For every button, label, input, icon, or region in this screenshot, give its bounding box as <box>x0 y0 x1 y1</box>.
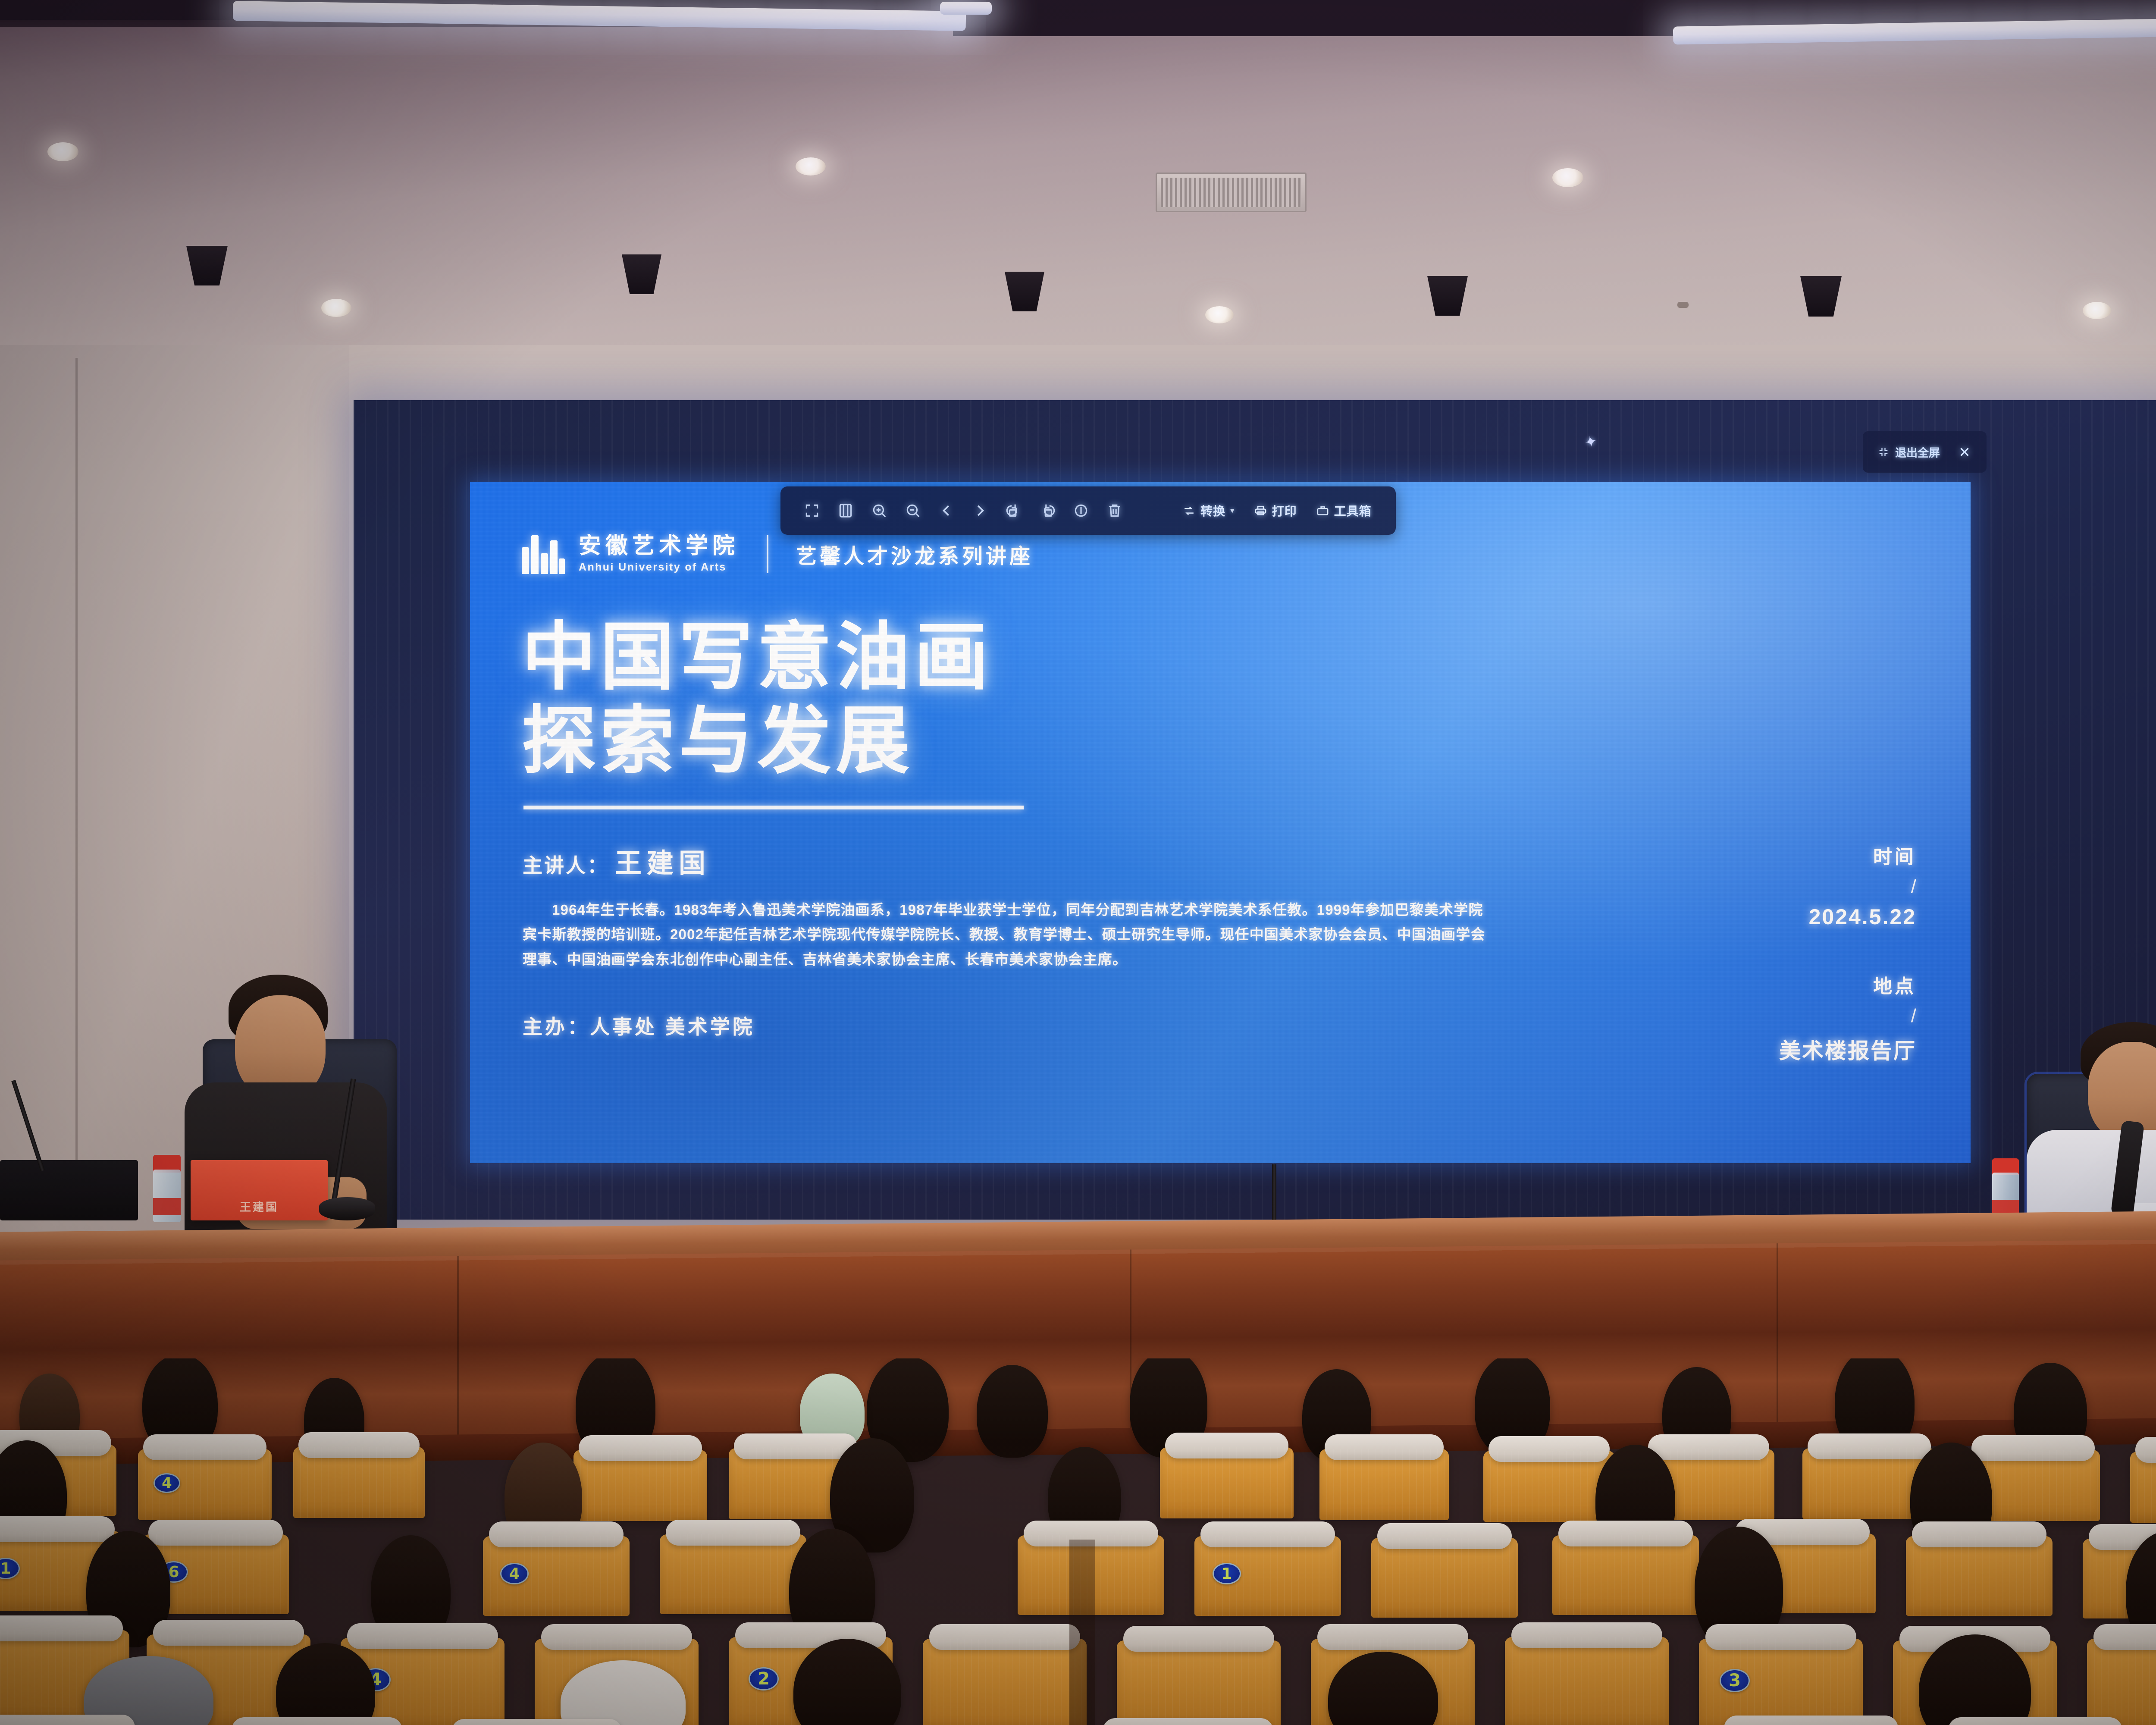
downlight-5 <box>1552 168 1583 187</box>
zoom-out-icon[interactable] <box>896 495 930 527</box>
seat[interactable] <box>573 1450 707 1521</box>
name-card-left: 王建国 <box>191 1160 328 1220</box>
microphone-stand-center <box>1272 1164 1276 1220</box>
water-bottle-left <box>153 1155 181 1222</box>
close-icon[interactable] <box>1957 445 1972 459</box>
audience-head <box>977 1365 1048 1458</box>
title-underline-rule <box>523 806 1024 809</box>
organizer-line: 主办：人事处 美术学院 <box>523 1011 1489 1040</box>
speaker-biography: 1964年生于长春。1983年考入鲁迅美术学院油画系，1987年毕业获学士学位，… <box>523 897 1489 972</box>
rotate-left-icon[interactable] <box>997 495 1031 527</box>
toolbox-button[interactable]: 工具箱 <box>1307 495 1381 527</box>
audience-seating: 4 1 6 4 1 3 <box>0 1358 2156 1725</box>
speaker-name: 王建国 <box>615 849 711 878</box>
zoom-in-icon[interactable] <box>862 495 896 527</box>
university-name-cn: 安徽艺术学院 <box>579 535 739 557</box>
slide-title-line1: 中国写意油画 <box>522 615 1929 699</box>
rotate-right-icon[interactable] <box>1031 495 1064 527</box>
delete-icon[interactable] <box>1098 495 1131 527</box>
ceiling-slab-mid <box>953 0 1686 36</box>
seat[interactable] <box>2130 1452 2156 1523</box>
seat[interactable] <box>1117 1640 1281 1725</box>
laptop-left <box>0 1160 138 1220</box>
chevron-down-icon[interactable]: ▾ <box>1230 506 1235 516</box>
seat[interactable] <box>1371 1538 1518 1618</box>
pdf-viewer-toolbar[interactable]: 转换 ▾ 打印 工具箱 <box>780 486 1396 535</box>
wall-seam-left <box>75 358 78 1203</box>
speaker-row: 主讲人：王建国 <box>523 841 1489 880</box>
place-slash: / <box>1489 1005 1916 1027</box>
time-value: 2024.5.22 <box>1489 904 1916 929</box>
seat[interactable] <box>1552 1535 1699 1615</box>
downlight-3 <box>796 157 826 176</box>
seat[interactable]: 1 <box>1194 1536 1341 1616</box>
next-page-icon[interactable] <box>963 495 997 527</box>
smoke-detector <box>1677 302 1689 308</box>
slide-meta-column: 时间 / 2024.5.22 地点 / 美术楼报告厅 <box>1489 841 1929 1065</box>
slide-brand-bar: 安徽艺术学院 Anhui University of Arts 艺馨人才沙龙系列… <box>521 534 1929 574</box>
seat-number-badge: 2 <box>749 1667 779 1690</box>
seat-number-badge: 3 <box>1720 1669 1750 1692</box>
projected-slide: 安徽艺术学院 Anhui University of Arts 艺馨人才沙龙系列… <box>470 482 1971 1163</box>
microphone-base-left <box>319 1197 375 1220</box>
convert-button[interactable]: 转换 ▾ <box>1173 495 1244 527</box>
name-card-left-text: 王建国 <box>240 1198 279 1214</box>
seat[interactable] <box>923 1639 1087 1725</box>
downlight-1 <box>47 142 78 161</box>
aisle-shadow-left <box>1069 1540 1095 1725</box>
viewer-window-chrome[interactable]: 退出全屏 <box>1863 431 1987 473</box>
seat-number-badge: 1 <box>1213 1563 1241 1584</box>
university-logo-icon <box>521 534 566 574</box>
seat[interactable] <box>293 1447 425 1518</box>
slide-title-line2: 探索与发展 <box>522 699 1929 783</box>
seat[interactable] <box>1505 1637 1669 1725</box>
toolbox-label: 工具箱 <box>1334 502 1372 519</box>
brand-divider <box>767 535 768 573</box>
convert-label: 转换 <box>1200 502 1225 519</box>
place-label: 地点 <box>1489 971 1916 998</box>
page-view-icon[interactable] <box>829 495 862 527</box>
seat[interactable] <box>2087 1639 2156 1725</box>
downlight-4 <box>1205 306 1234 323</box>
seat[interactable]: 4 <box>483 1536 630 1616</box>
previous-page-icon[interactable] <box>930 495 963 527</box>
seat[interactable] <box>1160 1447 1294 1518</box>
downlight-6 <box>2083 302 2111 319</box>
downlight-2 <box>321 299 351 317</box>
fit-screen-icon[interactable] <box>795 495 829 527</box>
seat-number-badge: 4 <box>154 1473 180 1493</box>
ceiling-tube-light-3 <box>940 2 992 15</box>
place-value: 美术楼报告厅 <box>1489 1034 1916 1065</box>
seat[interactable]: 3 <box>1699 1639 1863 1725</box>
print-button[interactable]: 打印 <box>1244 495 1307 527</box>
stamp-icon[interactable] <box>1064 495 1098 527</box>
print-label: 打印 <box>1272 502 1297 519</box>
time-label: 时间 <box>1489 841 1916 869</box>
speaker-label: 主讲人： <box>523 854 609 877</box>
ceiling-air-vent <box>1156 172 1307 212</box>
lecture-series-name: 艺馨人才沙龙系列讲座 <box>796 539 1033 569</box>
university-name-en: Anhui University of Arts <box>579 561 739 574</box>
time-slash: / <box>1489 876 1916 897</box>
seat-number-badge: 4 <box>500 1563 529 1584</box>
seat[interactable]: 4 <box>138 1449 272 1520</box>
seat[interactable] <box>660 1534 806 1614</box>
exit-fullscreen-label: 退出全屏 <box>1895 444 1940 460</box>
lecture-hall-scene: 安徽艺术学院 Anhui University of Arts 艺馨人才沙龙系列… <box>0 0 2156 1725</box>
ceiling-slab-left <box>0 0 241 20</box>
slide-title: 中国写意油画 探索与发展 <box>522 615 1929 783</box>
seat[interactable] <box>1319 1449 1449 1520</box>
exit-fullscreen-button[interactable]: 退出全屏 <box>1877 444 1940 460</box>
seat[interactable] <box>1906 1536 2053 1616</box>
